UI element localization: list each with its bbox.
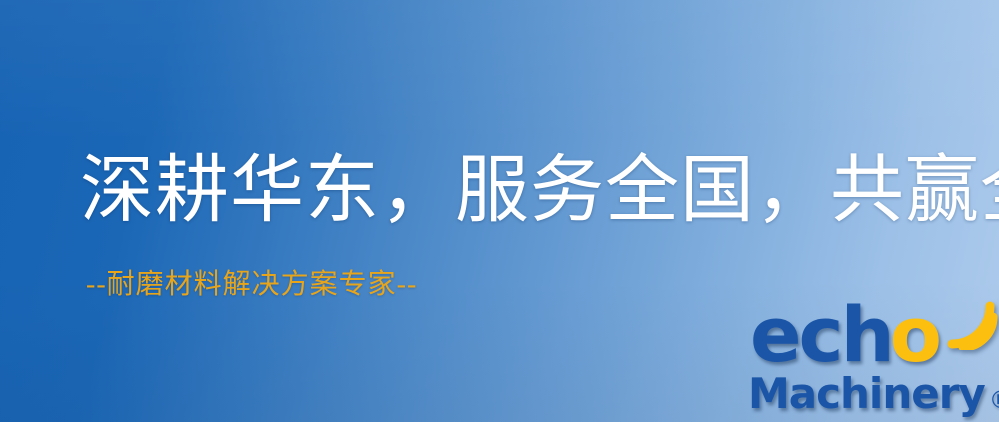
banner-headline: 深耕华东，服务全国，共赢全球: [80, 148, 960, 234]
logo-text-ech: ech: [750, 296, 892, 374]
echo-machinery-logo: echo Machinery®: [744, 296, 996, 422]
registered-trademark-icon: ®: [989, 376, 999, 422]
banner-subtitle: --耐磨材料解决方案专家--: [86, 268, 417, 302]
logo-text-machinery: Machinery: [748, 370, 985, 418]
promo-banner: 深耕华东，服务全国，共赢全球 --耐磨材料解决方案专家-- echo Machi…: [0, 0, 999, 422]
logo-wordmark-primary-row: echo: [744, 296, 996, 374]
logo-text-o-accent: o: [890, 296, 939, 374]
logo-wordmark-secondary-row: Machinery®: [744, 370, 996, 422]
signal-waves-icon: [938, 292, 999, 350]
